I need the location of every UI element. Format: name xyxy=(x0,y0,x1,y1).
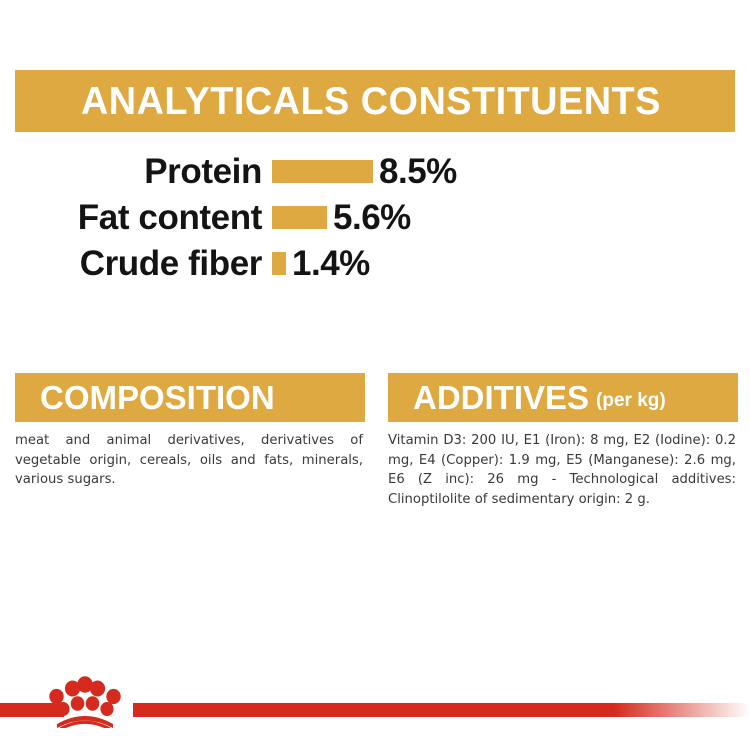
nutrient-row-fat-content: Fat content 5.6% xyxy=(0,194,520,240)
product-label-panel: ANALYTICALS CONSTITUENTS Protein 8.5% Fa… xyxy=(0,0,750,750)
nutrient-bar-chart: Protein 8.5% Fat content 5.6% Crude fibe… xyxy=(0,148,520,286)
additives-body-text: Vitamin D3: 200 IU, E1 (Iron): 8 mg, E2 … xyxy=(388,422,738,509)
additives-column: ADDITIVES (per kg) Vitamin D3: 200 IU, E… xyxy=(388,373,738,509)
composition-heading: COMPOSITION xyxy=(40,381,275,414)
footer-rule-right xyxy=(133,703,750,717)
nutrient-row-crude-fiber: Crude fiber 1.4% xyxy=(0,240,520,286)
nutrient-row-protein: Protein 8.5% xyxy=(0,148,520,194)
composition-column: COMPOSITION meat and animal derivatives,… xyxy=(15,373,365,509)
analyticals-constituents-banner: ANALYTICALS CONSTITUENTS xyxy=(15,70,735,132)
composition-banner: COMPOSITION xyxy=(15,373,365,422)
nutrient-label-fat-content: Fat content xyxy=(0,200,272,235)
additives-banner: ADDITIVES (per kg) xyxy=(388,373,738,422)
nutrient-value-fat-content: 5.6% xyxy=(327,200,411,235)
royal-canin-crown-logo xyxy=(48,672,122,728)
nutrient-bar-wrap-fat-content: 5.6% xyxy=(272,200,411,235)
nutrient-bar-wrap-crude-fiber: 1.4% xyxy=(272,246,370,281)
additives-heading-suffix: (per kg) xyxy=(589,391,666,410)
nutrient-bar-protein xyxy=(272,160,373,183)
nutrient-value-protein: 8.5% xyxy=(373,154,457,189)
analyticals-constituents-heading: ANALYTICALS CONSTITUENTS xyxy=(81,82,661,121)
nutrient-label-crude-fiber: Crude fiber xyxy=(0,246,272,281)
footer-brand-bar xyxy=(0,660,750,750)
nutrient-value-crude-fiber: 1.4% xyxy=(286,246,370,281)
composition-body-text: meat and animal derivatives, derivatives… xyxy=(15,422,365,490)
nutrient-bar-fat-content xyxy=(272,206,327,229)
nutrient-bar-crude-fiber xyxy=(272,252,286,275)
nutrient-bar-wrap-protein: 8.5% xyxy=(272,154,457,189)
additives-heading: ADDITIVES xyxy=(413,381,589,414)
composition-additives-columns: COMPOSITION meat and animal derivatives,… xyxy=(15,373,735,509)
nutrient-label-protein: Protein xyxy=(0,154,272,189)
